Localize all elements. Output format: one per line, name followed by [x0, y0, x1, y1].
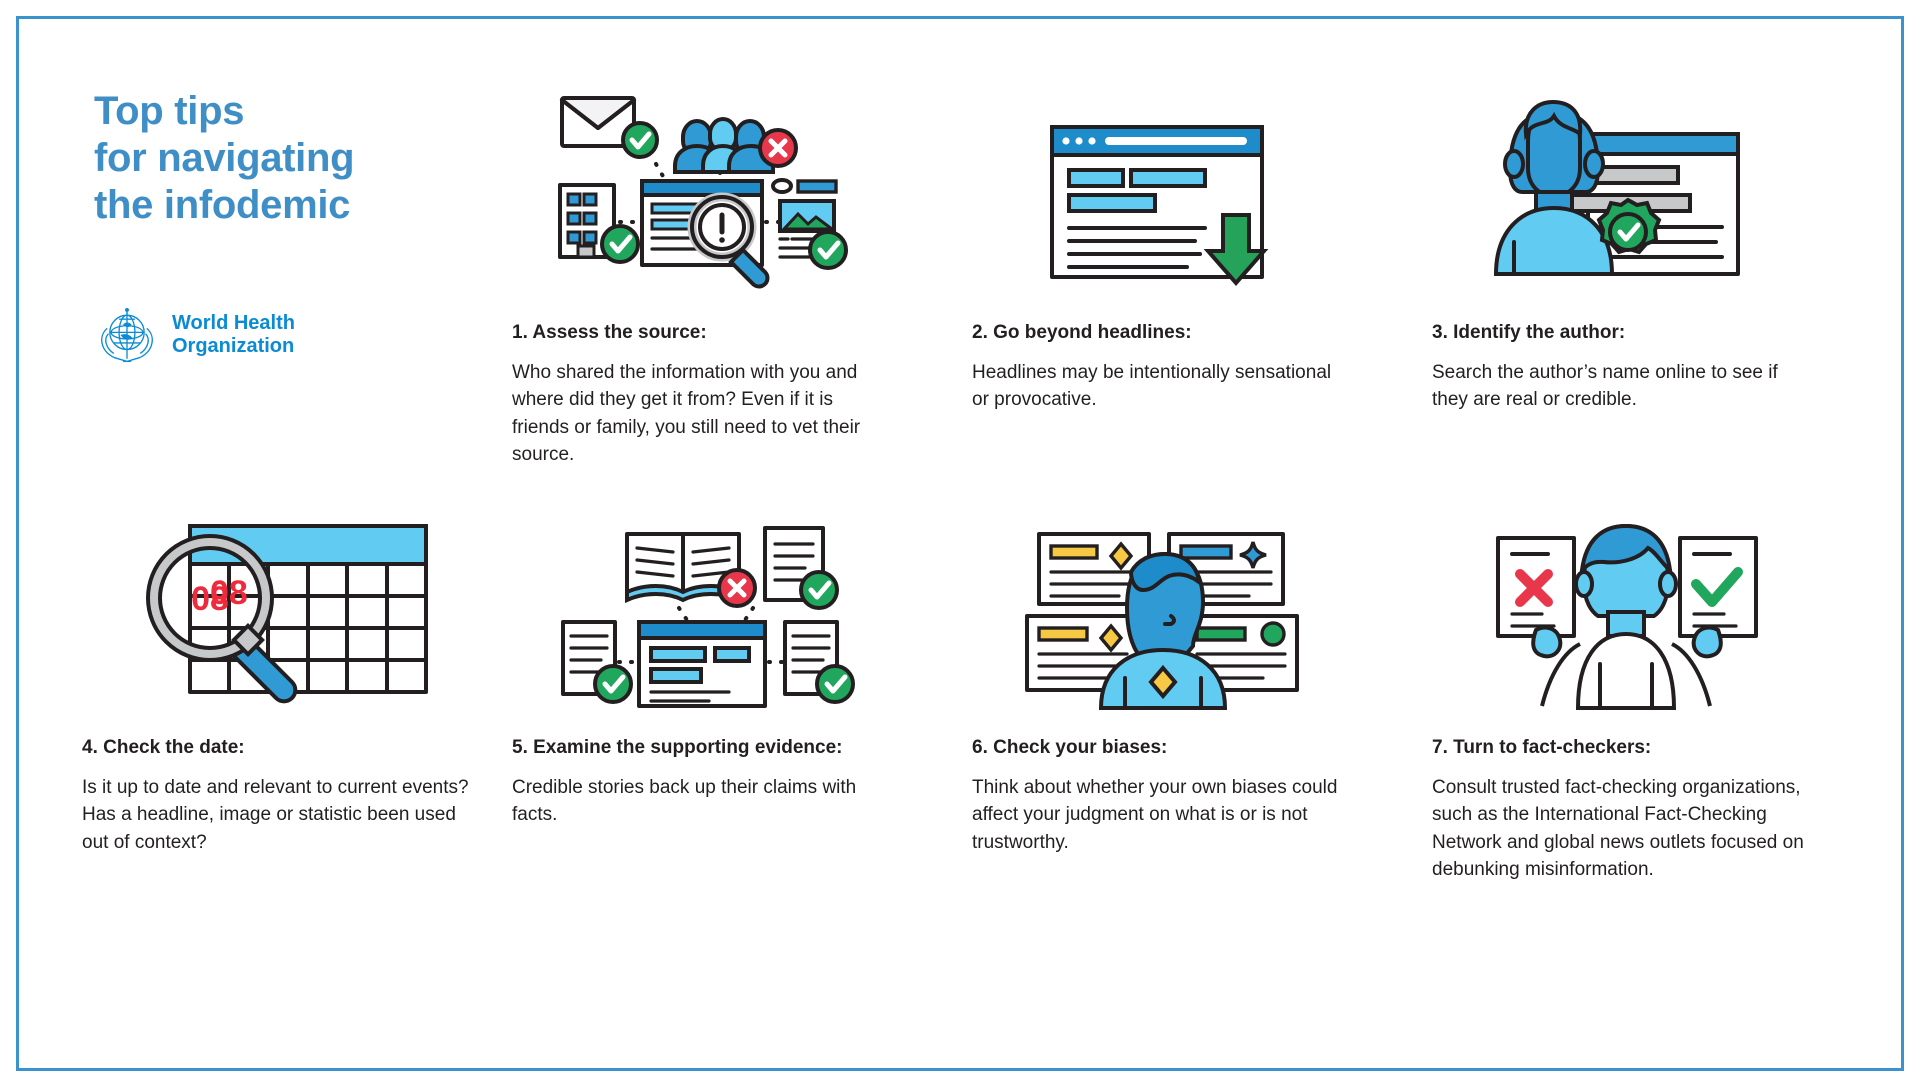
tip-card-6: 6. Check your biases: Think about whethe… — [972, 512, 1352, 856]
tip-body: Consult trusted fact-checking organizati… — [1432, 774, 1822, 884]
go-beyond-headlines-illustration — [972, 82, 1342, 297]
ear — [1505, 151, 1523, 177]
tip-title: 7. Turn to fact-checkers: — [1432, 736, 1822, 760]
check-the-date-illustration: 08 08 — [82, 512, 472, 712]
tip-title: 1. Assess the source: — [512, 321, 892, 345]
window-dots — [1062, 137, 1095, 144]
ear — [1576, 572, 1592, 596]
check-badge — [602, 226, 638, 262]
check-your-biases-illustration — [972, 512, 1352, 712]
tip-body: Who shared the information with you and … — [512, 359, 892, 469]
turn-to-fact-checkers-illustration — [1432, 512, 1822, 712]
identify-the-author-illustration — [1432, 82, 1812, 297]
tip-card-7: 7. Turn to fact-checkers: Consult truste… — [1432, 512, 1822, 884]
tips-grid: 1. Assess the source: Who shared the inf… — [72, 72, 1868, 1032]
check-badge — [801, 572, 837, 608]
examine-evidence-illustration — [512, 512, 902, 712]
sheet-with-green-check — [1680, 538, 1756, 636]
assess-the-source-illustration — [512, 82, 892, 297]
green-circle-icon — [1262, 623, 1284, 645]
date-number-magnified: 08 — [191, 580, 229, 618]
tip-title: 5. Examine the supporting evidence: — [512, 736, 902, 760]
tip-body: Think about whether your own biases coul… — [972, 774, 1352, 857]
tip-title: 2. Go beyond headlines: — [972, 321, 1342, 345]
tip-card-2: 2. Go beyond headlines: Headlines may be… — [972, 82, 1342, 414]
tip-body: Search the author’s name online to see i… — [1432, 359, 1812, 414]
person-avatar — [1496, 102, 1612, 274]
check-badge — [817, 666, 853, 702]
hand-left — [1533, 628, 1560, 657]
tip-body: Credible stories back up their claims wi… — [512, 774, 902, 829]
check-badge — [595, 666, 631, 702]
ear — [1660, 572, 1676, 596]
tip-body: Is it up to date and relevant to current… — [82, 774, 472, 857]
ear — [1585, 151, 1603, 177]
sheet-with-red-x — [1498, 538, 1574, 636]
shirt — [1578, 634, 1674, 708]
tip-card-3: 3. Identify the author: Search the autho… — [1432, 82, 1812, 414]
tip-title: 3. Identify the author: — [1432, 321, 1812, 345]
tip-card-1: 1. Assess the source: Who shared the inf… — [512, 82, 892, 469]
url-bar — [1105, 137, 1247, 145]
infographic-poster: Top tips for navigating the infodemic — [0, 0, 1920, 1087]
check-badge — [623, 123, 657, 157]
verified-rosette-badge — [1599, 200, 1659, 252]
tip-title: 6. Check your biases: — [972, 736, 1352, 760]
tip-card-4: 08 08 4. Check the date: Is it up to dat… — [82, 512, 472, 856]
hand-right — [1694, 628, 1721, 657]
browser-window — [639, 622, 765, 706]
tip-card-5: 5. Examine the supporting evidence: Cred… — [512, 512, 902, 829]
tip-body: Headlines may be intentionally sensation… — [972, 359, 1342, 414]
tip-title: 4. Check the date: — [82, 736, 472, 760]
check-badge — [810, 232, 846, 268]
dotted-connector — [679, 608, 753, 620]
